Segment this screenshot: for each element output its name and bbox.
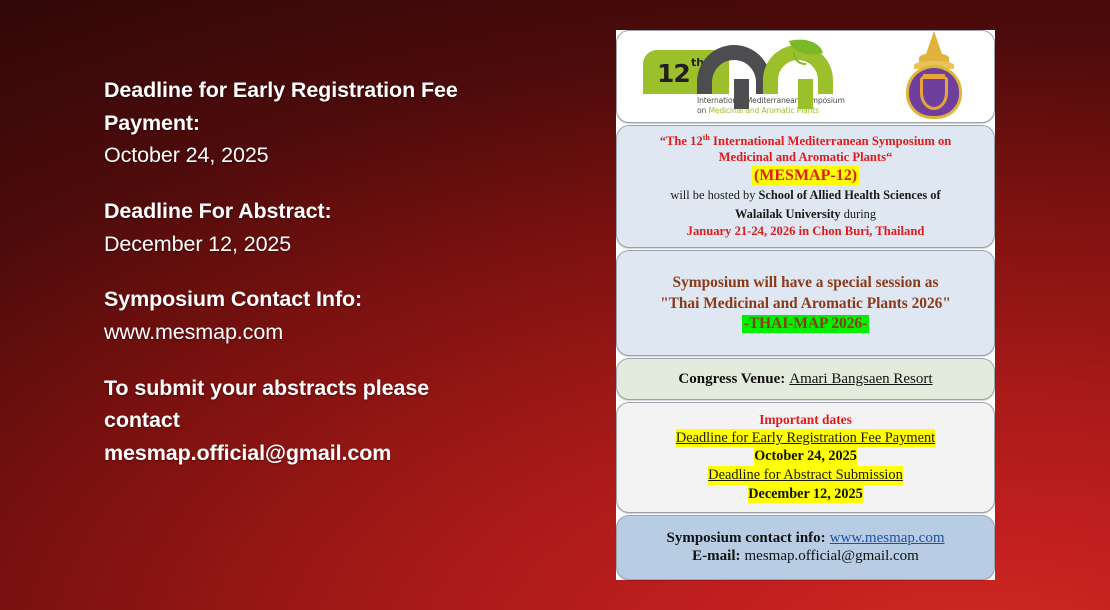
symposium-title-line1: “The 12th International Mediterranean Sy…	[627, 133, 984, 150]
special-session-tag-wrap: -THAI-MAP 2026-	[627, 315, 984, 333]
logo-subtitle-line1: International Mediterranean Symposium	[697, 96, 845, 105]
symposium-host-line1: will be hosted by School of Allied Healt…	[627, 187, 984, 203]
mesmap-logo: 12 th International Mediterranean Sympos…	[643, 37, 833, 115]
poster-contact-website-row: Symposium contact info: www.mesmap.com	[627, 529, 984, 547]
submit-abstracts-email[interactable]: mesmap.official@gmail.com	[104, 437, 544, 470]
contact-info-block: Symposium Contact Info: www.mesmap.com	[104, 283, 544, 348]
submit-abstracts-block: To submit your abstracts please contact …	[104, 372, 544, 470]
symposium-poster-card: 12 th International Mediterranean Sympos…	[616, 30, 995, 580]
host-prefix: will be hosted by	[670, 188, 758, 202]
submit-abstracts-heading-line2: contact	[104, 404, 544, 437]
announcement-text-column: Deadline for Early Registration Fee Paym…	[104, 74, 544, 470]
early-registration-heading-line1: Deadline for Early Registration Fee	[104, 74, 544, 107]
abstract-submission-deadline-date: December 12, 2025	[748, 485, 862, 503]
seal-monogram-bar-icon	[923, 74, 945, 78]
poster-contact-email: mesmap.official@gmail.com	[745, 548, 919, 564]
abstract-submission-deadline-label: Deadline for Abstract Submission	[708, 466, 903, 485]
poster-contact-label: Symposium contact info:	[666, 530, 825, 546]
poster-contact-email-label: E-mail:	[692, 548, 740, 564]
poster-contact-email-row: E-mail: mesmap.official@gmail.com	[627, 547, 984, 565]
symposium-title-pre: “The 12	[660, 134, 703, 148]
symposium-acronym-wrap: (MESMAP-12)	[627, 165, 984, 185]
abstract-deadline-heading: Deadline For Abstract:	[104, 195, 544, 228]
edition-number: 12	[657, 61, 690, 86]
special-session-tag: -THAI-MAP 2026-	[742, 315, 870, 333]
congress-venue-label: Congress Venue:	[678, 371, 785, 387]
special-session-panel: Symposium will have a special session as…	[616, 250, 995, 356]
congress-venue-value: Amari Bangsaen Resort	[789, 371, 932, 387]
abstract-deadline-date: December 12, 2025	[104, 228, 544, 261]
host-institution: School of Allied Health Sciences of	[759, 188, 941, 202]
important-dates-panel: Important dates Deadline for Early Regis…	[616, 402, 995, 513]
symposium-title-post: International Mediterranean Symposium on	[710, 134, 951, 148]
early-registration-deadline-date: October 24, 2025	[754, 447, 857, 465]
important-dates-row: October 24, 2025	[627, 447, 984, 465]
poster-contact-website[interactable]: www.mesmap.com	[830, 530, 945, 546]
congress-venue-panel: Congress Venue: Amari Bangsaen Resort	[616, 358, 995, 400]
host-suffix: during	[841, 207, 876, 221]
seal-body-icon	[906, 65, 962, 119]
symposium-intro-panel: “The 12th International Mediterranean Sy…	[616, 125, 995, 248]
logo-subtitle-prefix: on	[697, 106, 708, 115]
important-dates-row: Deadline for Abstract Submission	[627, 466, 984, 485]
early-registration-block: Deadline for Early Registration Fee Paym…	[104, 74, 544, 172]
seal-monogram-icon	[920, 76, 948, 110]
walailak-university-seal-icon	[902, 31, 966, 121]
poster-logo-header: 12 th International Mediterranean Sympos…	[616, 30, 995, 123]
abstract-deadline-block: Deadline For Abstract: December 12, 2025	[104, 195, 544, 260]
important-dates-title: Important dates	[627, 411, 984, 429]
contact-info-website[interactable]: www.mesmap.com	[104, 316, 544, 349]
early-registration-deadline-label: Deadline for Early Registration Fee Paym…	[676, 429, 935, 448]
early-registration-date: October 24, 2025	[104, 139, 544, 172]
special-session-line1: Symposium will have a special session as	[627, 273, 984, 294]
symposium-title-line2: Medicinal and Aromatic Plants“	[627, 150, 984, 166]
submit-abstracts-heading-line1: To submit your abstracts please	[104, 372, 544, 405]
symposium-host-line2: Walailak University during	[627, 206, 984, 222]
important-dates-row: Deadline for Early Registration Fee Paym…	[627, 429, 984, 448]
symposium-dates-location: January 21-24, 2026 in Chon Buri, Thaila…	[627, 224, 984, 239]
mesmap-logo-mark: 12 th	[643, 37, 833, 94]
important-dates-row: December 12, 2025	[627, 485, 984, 503]
host-university: Walailak University	[735, 207, 841, 221]
contact-info-heading: Symposium Contact Info:	[104, 283, 544, 316]
early-registration-heading-line2: Payment:	[104, 107, 544, 140]
special-session-line2: "Thai Medicinal and Aromatic Plants 2026…	[627, 294, 984, 315]
symposium-acronym: (MESMAP-12)	[752, 166, 859, 185]
poster-contact-panel: Symposium contact info: www.mesmap.com E…	[616, 515, 995, 580]
symposium-title-ordinal: th	[703, 133, 710, 142]
